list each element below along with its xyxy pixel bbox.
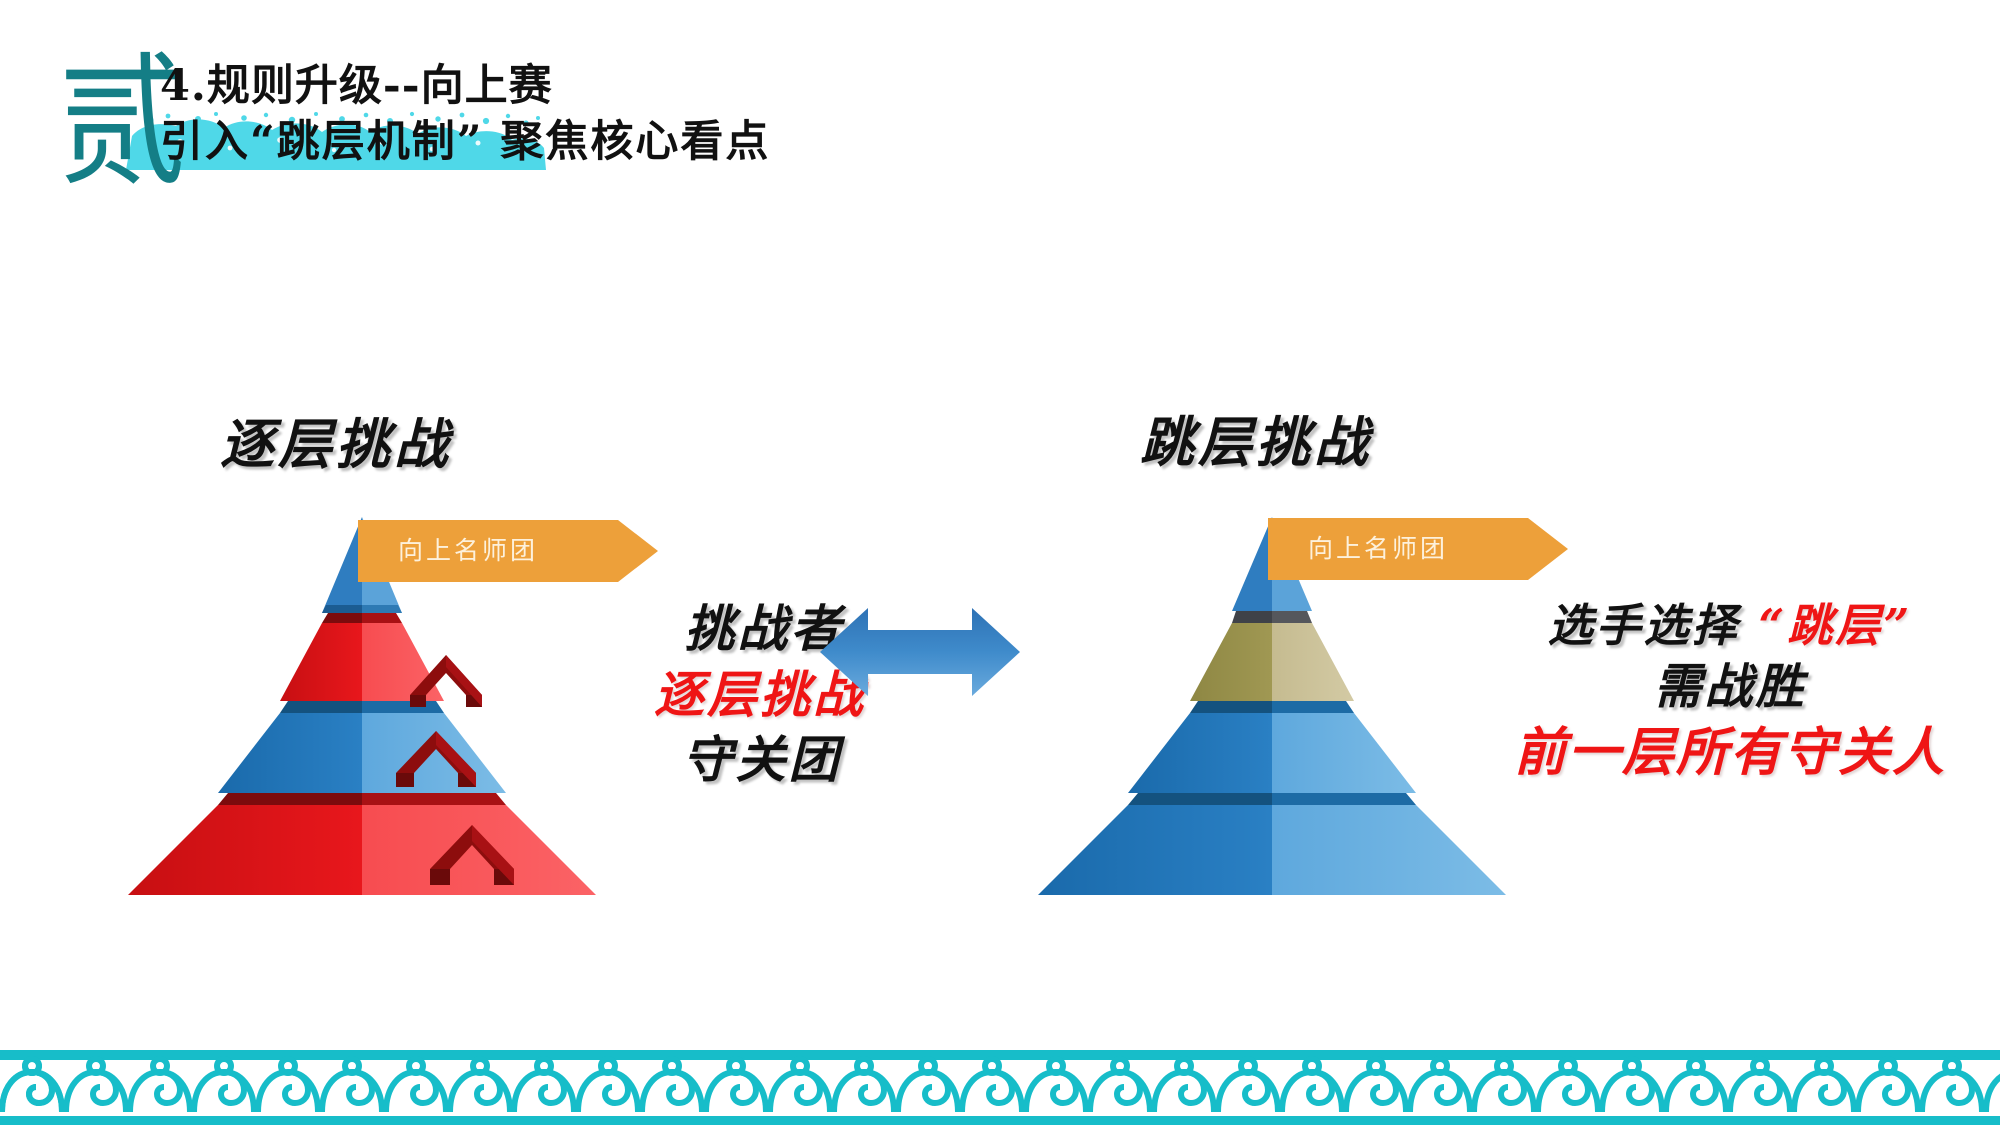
left-panel-title: 逐层挑战 <box>220 400 452 479</box>
slide-header: 贰 4.规则升级--向上赛 引入“跳层机制” 聚焦核心看点 <box>0 0 2000 230</box>
right-line-1-prefix: 选手选择 <box>1548 599 1740 652</box>
left-banner: 向上名师团 <box>358 520 658 582</box>
slide-title-block: 4.规则升级--向上赛 引入“跳层机制” 聚焦核心看点 <box>160 58 770 170</box>
left-banner-label: 向上名师团 <box>398 520 538 582</box>
right-line-1-highlight: “跳层” <box>1758 599 1912 652</box>
pyramid-tier-third <box>1128 701 1416 793</box>
right-banner-label: 向上名师团 <box>1308 518 1448 580</box>
right-panel-title: 跳层挑战 <box>1140 398 1372 477</box>
right-line-1: 选手选择 “跳层” <box>1470 600 1990 652</box>
pyramid-tier-base <box>128 793 596 895</box>
slide-title-line-2: 引入“跳层机制” 聚焦核心看点 <box>160 114 770 170</box>
right-text-block: 选手选择 “跳层” 需战胜 前一层所有守关人 <box>1470 600 1990 791</box>
double-headed-arrow-icon <box>820 600 1020 705</box>
right-line-3: 前一层所有守关人 <box>1470 723 1990 783</box>
left-line-3: 守关团 <box>564 731 960 789</box>
wave-pattern-border <box>0 1050 2000 1125</box>
pyramid-tier-second <box>1190 611 1354 701</box>
slide-title-line-1: 4.规则升级--向上赛 <box>160 58 770 114</box>
right-line-2: 需战胜 <box>1470 660 1990 715</box>
pyramid-tier-base <box>1038 793 1506 895</box>
right-banner: 向上名师团 <box>1268 518 1568 580</box>
